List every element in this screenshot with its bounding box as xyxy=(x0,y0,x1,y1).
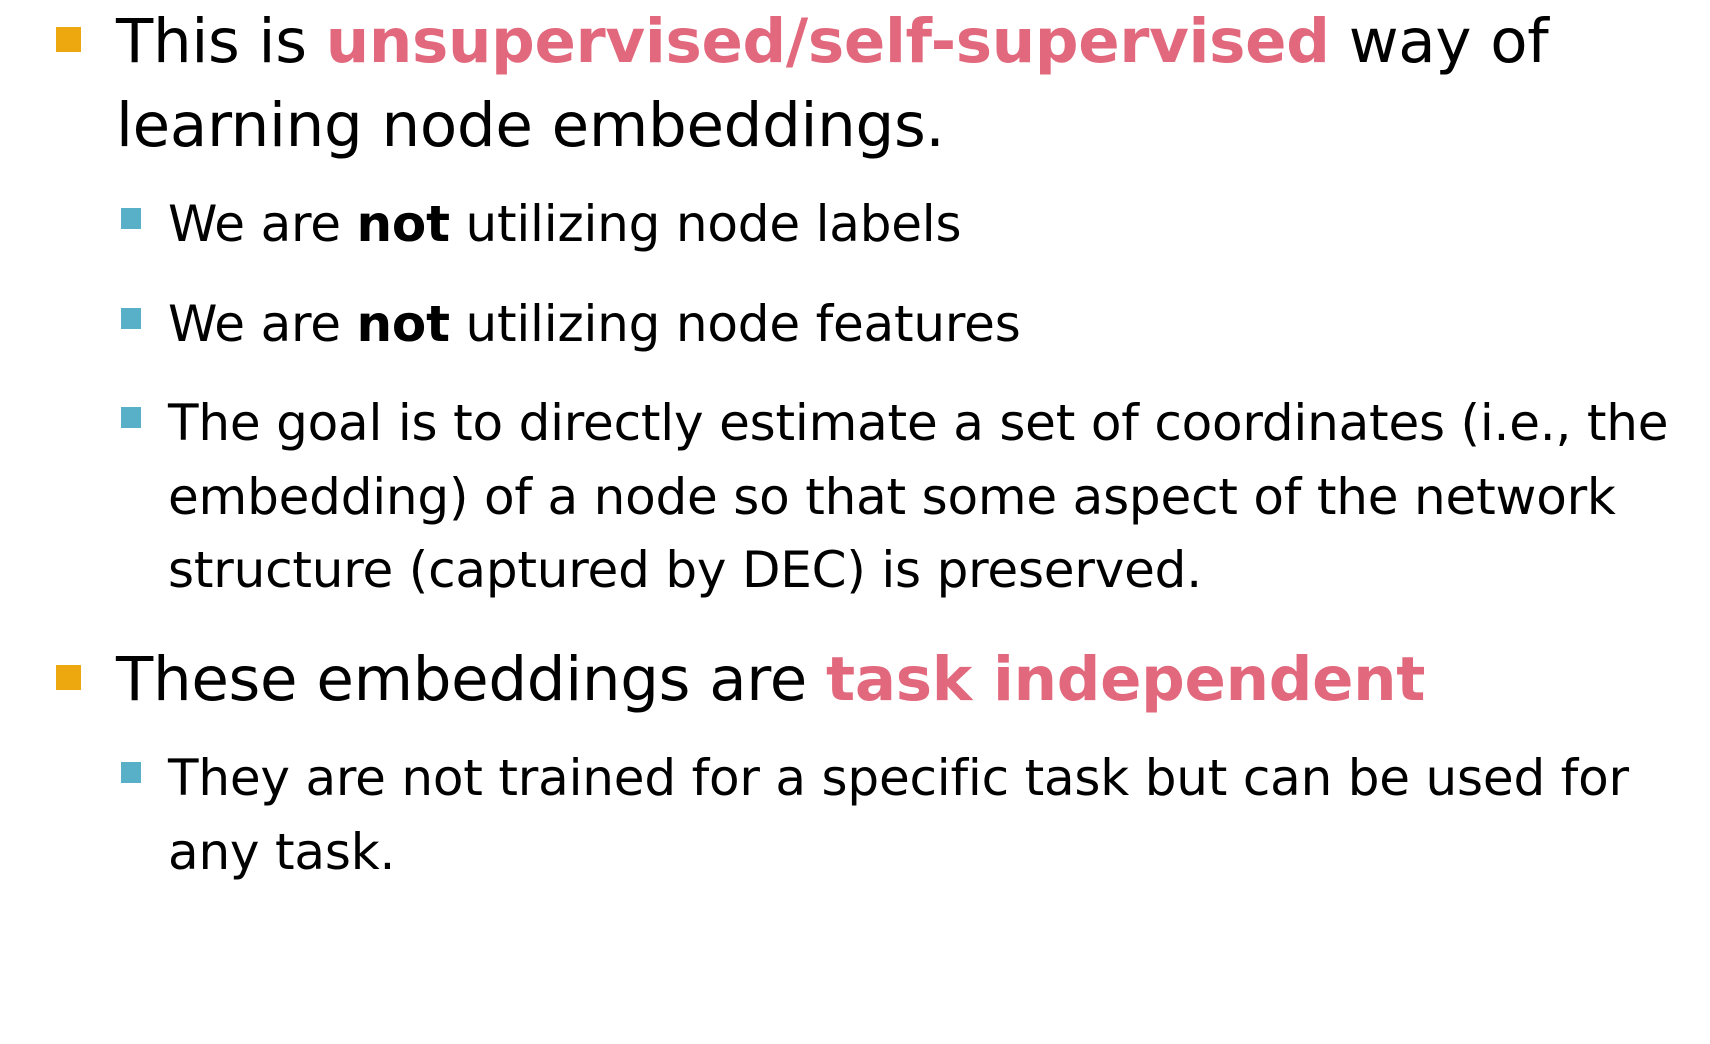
bullet1-sub-list: We are not utilizing node labels We are … xyxy=(0,188,1710,608)
bullet2-text-part-a: These embeddings are xyxy=(116,644,826,715)
bullet2-highlight-task-independent: task independent xyxy=(826,644,1425,715)
bullet-level2-item-3: The goal is to directly estimate a set o… xyxy=(0,387,1710,608)
teal-square-bullet-icon xyxy=(121,308,141,329)
bullet2-sub-list: They are not trained for a specific task… xyxy=(0,742,1710,889)
spacer-after-bullet1 xyxy=(0,168,1710,188)
sub1-text-part-c: utilizing node labels xyxy=(450,195,962,253)
bullet1-text-part-a: This is xyxy=(116,6,326,77)
sub3-text: The goal is to directly estimate a set o… xyxy=(168,394,1668,599)
sub2-text-part-a: We are xyxy=(168,295,357,353)
spacer-sub2-sub3 xyxy=(0,361,1710,387)
sub4-text: They are not trained for a specific task… xyxy=(168,749,1629,881)
teal-square-bullet-icon xyxy=(121,762,141,783)
bullet-level2-item-2: We are not utilizing node features xyxy=(0,288,1710,362)
teal-square-bullet-icon xyxy=(121,208,141,229)
teal-square-bullet-icon xyxy=(121,407,141,428)
sub2-text-part-c: utilizing node features xyxy=(450,295,1021,353)
sub1-bold-not: not xyxy=(357,195,450,253)
spacer-before-bullet2 xyxy=(0,608,1710,638)
orange-square-bullet-icon xyxy=(56,665,81,690)
slide-canvas: This is unsupervised/self-supervised way… xyxy=(0,0,1710,1044)
bullet-level1-item-1: This is unsupervised/self-supervised way… xyxy=(0,0,1616,168)
sub2-bold-not: not xyxy=(357,295,450,353)
spacer-after-bullet2 xyxy=(0,722,1710,742)
bullet1-highlight-unsupervised: unsupervised/self-supervised xyxy=(326,6,1330,77)
slide-bullet-list: This is unsupervised/self-supervised way… xyxy=(0,0,1710,889)
bullet-level2-item-4: They are not trained for a specific task… xyxy=(0,742,1710,889)
orange-square-bullet-icon xyxy=(56,27,81,52)
bullet-level2-item-1: We are not utilizing node labels xyxy=(0,188,1710,262)
bullet-level1-item-2: These embeddings are task independent xyxy=(0,638,1616,722)
spacer-sub1-sub2 xyxy=(0,262,1710,288)
sub1-text-part-a: We are xyxy=(168,195,357,253)
